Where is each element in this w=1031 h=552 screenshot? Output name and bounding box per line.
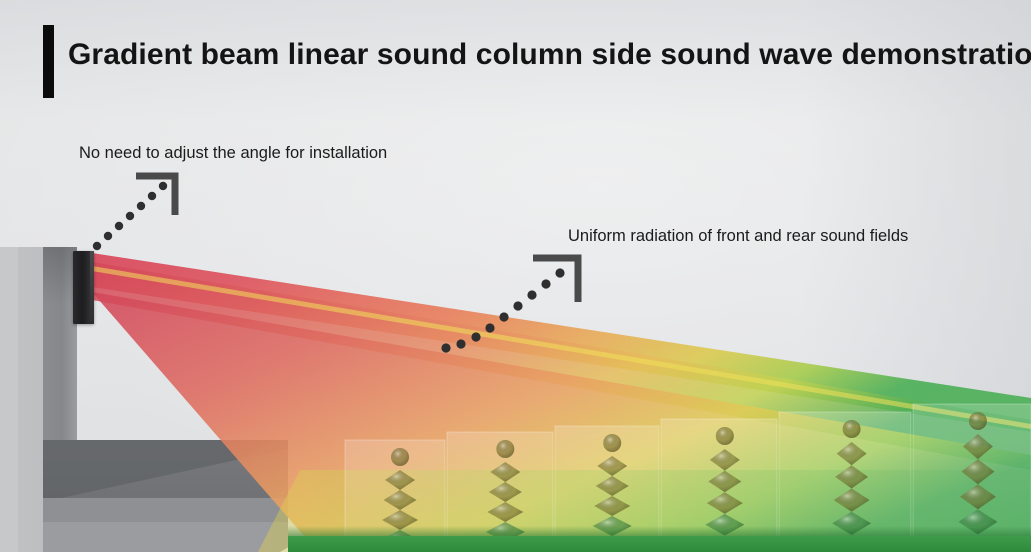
illustration-stage: Gradient beam linear sound column side s… bbox=[0, 0, 1031, 552]
callout-label-install-angle: No need to adjust the angle for installa… bbox=[79, 144, 387, 163]
pointer-install-angle bbox=[93, 176, 175, 250]
title-accent-bar bbox=[43, 25, 54, 98]
page-title: Gradient beam linear sound column side s… bbox=[68, 38, 1031, 72]
pointer-group bbox=[0, 0, 1031, 552]
callout-label-uniform-radiation: Uniform radiation of front and rear soun… bbox=[568, 227, 908, 246]
pointer-uniform-radiation bbox=[441, 258, 578, 353]
